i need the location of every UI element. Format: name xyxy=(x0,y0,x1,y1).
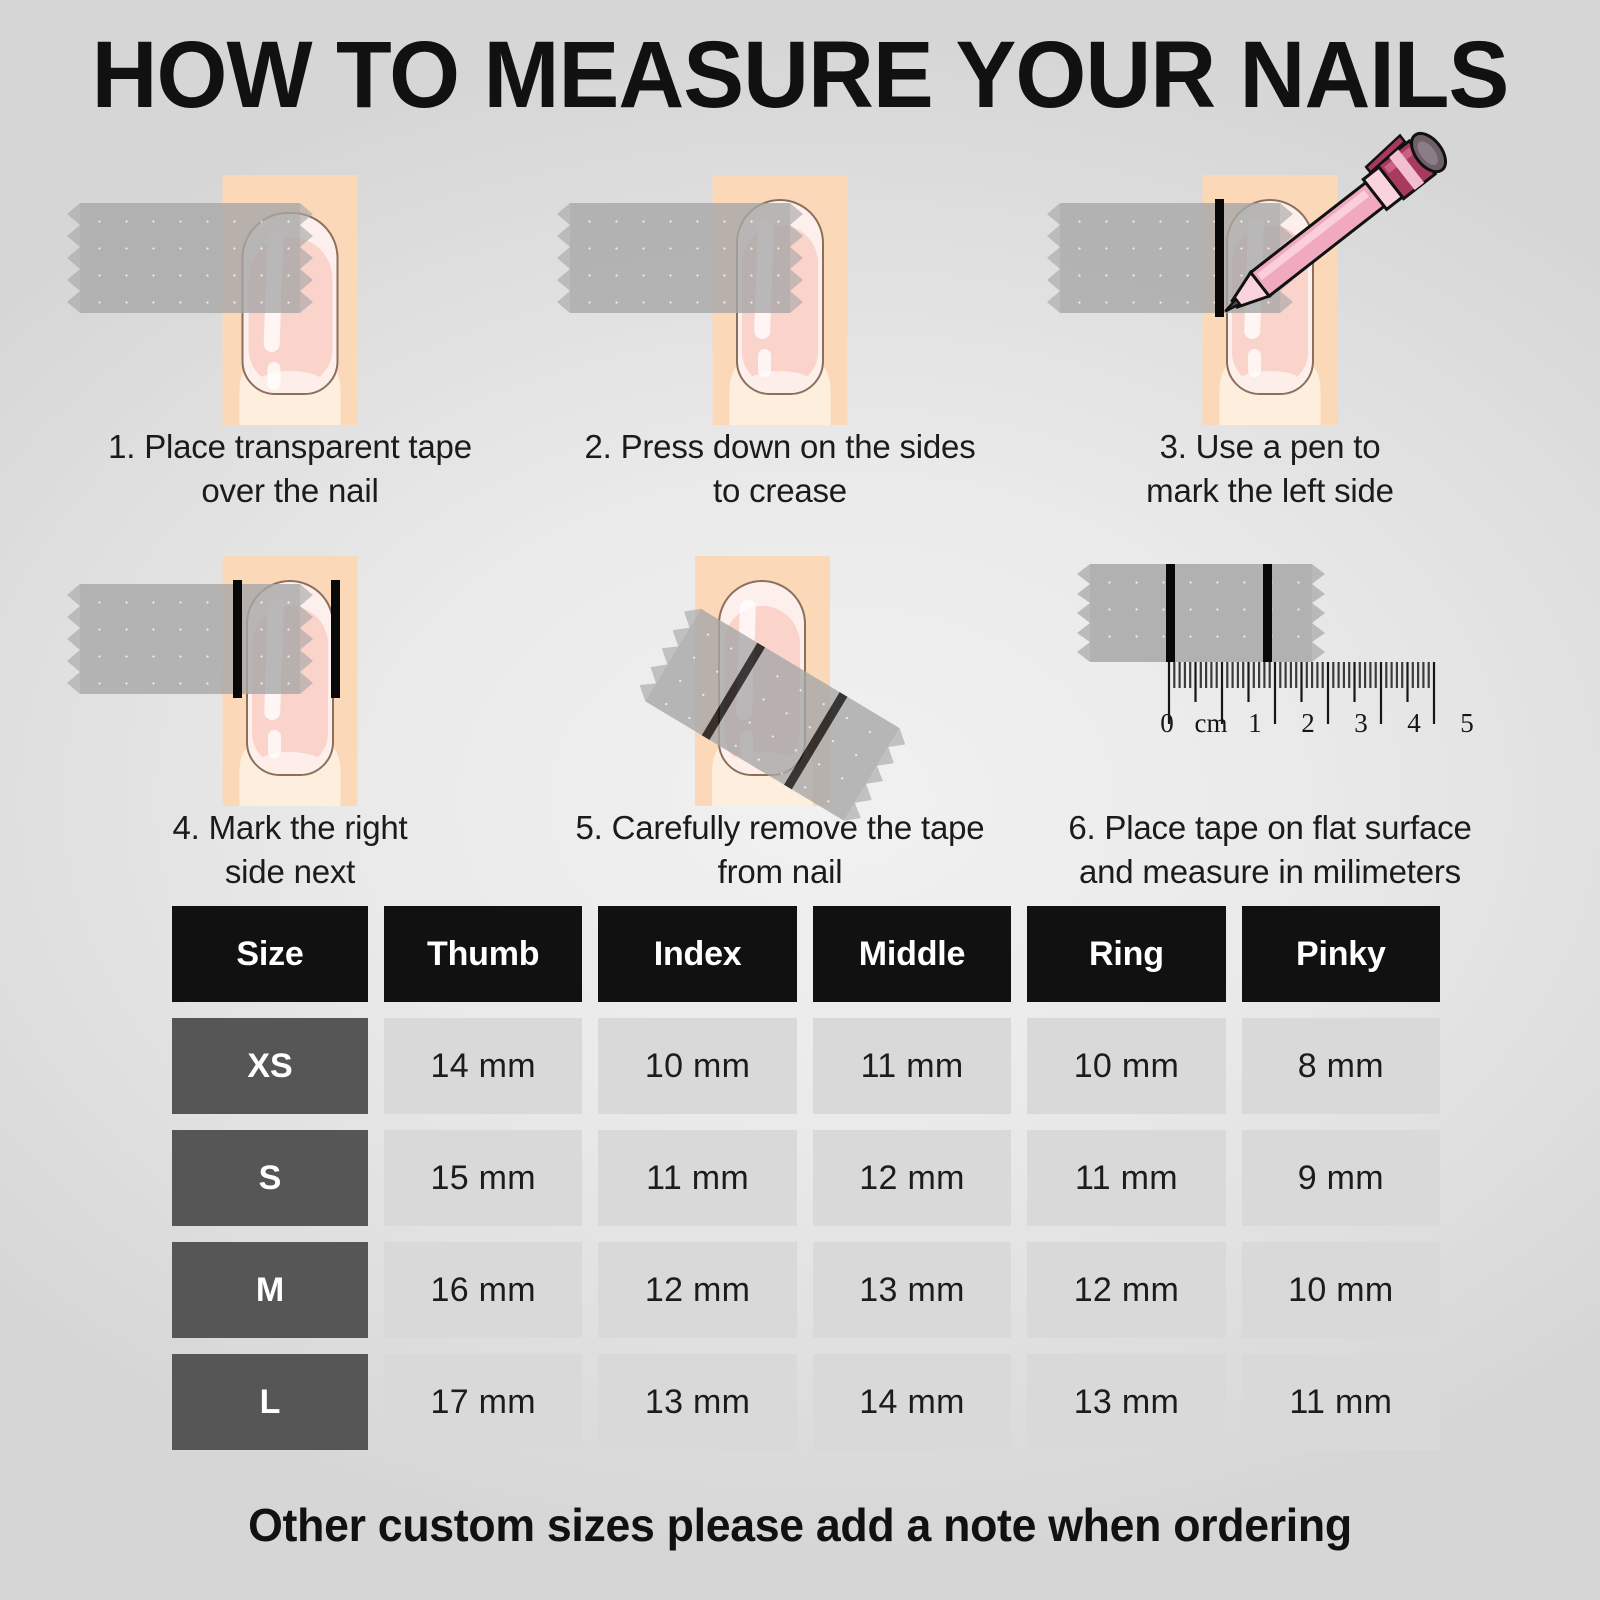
step-6-illustration: 0 cm 1 2 3 4 5 xyxy=(1035,506,1505,806)
step-6-line1: 6. Place tape on flat surface xyxy=(1020,806,1520,850)
row-size-xs: XS xyxy=(172,1018,368,1114)
cell-l-middle: 14 mm xyxy=(813,1354,1011,1450)
cell-xs-ring: 10 mm xyxy=(1027,1018,1225,1114)
tape-texture xyxy=(1090,564,1312,662)
step-3-caption: 3. Use a pen to mark the left side xyxy=(1035,425,1505,512)
nail-highlight-small xyxy=(268,362,281,390)
tape-zigzag-right xyxy=(1312,564,1325,662)
pen-mark-right xyxy=(331,580,340,698)
tape-texture xyxy=(570,203,790,313)
cell-l-ring: 13 mm xyxy=(1027,1354,1225,1450)
step-5: 5. Carefully remove the tape from nail xyxy=(545,506,1015,893)
footer-note: Other custom sizes please add a note whe… xyxy=(24,1498,1576,1552)
pen-icon xyxy=(1205,113,1465,323)
cell-s-middle: 12 mm xyxy=(813,1130,1011,1226)
pen-mark-right xyxy=(1263,564,1272,662)
nail-highlight-small xyxy=(268,730,281,758)
tape-zigzag-right xyxy=(790,203,803,313)
cell-s-index: 11 mm xyxy=(598,1130,796,1226)
cell-xs-middle: 11 mm xyxy=(813,1018,1011,1114)
nail-lunula xyxy=(1234,371,1306,395)
step-4: 4. Mark the right side next xyxy=(55,506,525,893)
step-2-illustration xyxy=(545,125,1015,425)
step-1: 1. Place transparent tape over the nail xyxy=(55,125,525,512)
step-2: 2. Press down on the sides to crease xyxy=(545,125,1015,512)
table-header-index: Index xyxy=(598,906,796,1002)
table-header-thumb: Thumb xyxy=(384,906,582,1002)
ruler-labels: 0 cm 1 2 3 4 5 xyxy=(1163,708,1553,748)
tape-zigzag-left xyxy=(1077,564,1090,662)
step-4-line2: side next xyxy=(55,850,525,894)
tape-zigzag-right xyxy=(300,203,313,313)
cell-m-middle: 13 mm xyxy=(813,1242,1011,1338)
cell-xs-index: 10 mm xyxy=(598,1018,796,1114)
step-4-illustration xyxy=(55,506,525,806)
table-row: XS 14 mm 10 mm 11 mm 10 mm 8 mm xyxy=(172,1018,1440,1114)
nail-highlight-small xyxy=(758,349,771,377)
nail-size-guide-page: HOW TO MEASURE YOUR NAILS 1. Place trans… xyxy=(0,0,1600,1600)
step-4-caption: 4. Mark the right side next xyxy=(55,806,525,893)
cell-m-thumb: 16 mm xyxy=(384,1242,582,1338)
row-size-m: M xyxy=(172,1242,368,1338)
nail-lunula xyxy=(254,752,326,776)
ruler-label-5: 5 xyxy=(1460,708,1474,739)
cell-xs-pinky: 8 mm xyxy=(1242,1018,1440,1114)
table-row: S 15 mm 11 mm 12 mm 11 mm 9 mm xyxy=(172,1130,1440,1226)
ruler-label-1: 1 xyxy=(1248,708,1262,739)
step-5-line2: from nail xyxy=(545,850,1015,894)
table-header-row: Size Thumb Index Middle Ring Pinky xyxy=(172,906,1440,1002)
tape-creased xyxy=(570,203,790,313)
table-header-ring: Ring xyxy=(1027,906,1225,1002)
step-3-illustration xyxy=(1035,125,1505,425)
row-size-s: S xyxy=(172,1130,368,1226)
step-3-line1: 3. Use a pen to xyxy=(1035,425,1505,469)
cell-m-index: 12 mm xyxy=(598,1242,796,1338)
step-5-caption: 5. Carefully remove the tape from nail xyxy=(545,806,1015,893)
tape-texture xyxy=(80,584,300,694)
nail-lunula xyxy=(744,371,816,395)
step-3: 3. Use a pen to mark the left side xyxy=(1035,125,1505,512)
page-title: HOW TO MEASURE YOUR NAILS xyxy=(32,28,1568,123)
step-1-line1: 1. Place transparent tape xyxy=(55,425,525,469)
ruler-label-0: 0 xyxy=(1160,708,1174,739)
table-row: M 16 mm 12 mm 13 mm 12 mm 10 mm xyxy=(172,1242,1440,1338)
nail-lunula xyxy=(254,371,326,395)
step-4-line1: 4. Mark the right xyxy=(55,806,525,850)
step-2-line1: 2. Press down on the sides xyxy=(545,425,1015,469)
ruler-label-4: 4 xyxy=(1407,708,1421,739)
step-6: 0 cm 1 2 3 4 5 6. Place tape on flat sur… xyxy=(1035,506,1505,893)
step-5-illustration xyxy=(545,506,1015,806)
tape-zigzag-right xyxy=(300,584,313,694)
pen-mark-left xyxy=(233,580,242,698)
cell-s-pinky: 9 mm xyxy=(1242,1130,1440,1226)
step-2-caption: 2. Press down on the sides to crease xyxy=(545,425,1015,512)
cell-l-pinky: 11 mm xyxy=(1242,1354,1440,1450)
tape-zigzag-left xyxy=(557,203,570,313)
ruler-label-3: 3 xyxy=(1354,708,1368,739)
cell-xs-thumb: 14 mm xyxy=(384,1018,582,1114)
step-1-illustration xyxy=(55,125,525,425)
tape xyxy=(80,584,300,694)
step-1-caption: 1. Place transparent tape over the nail xyxy=(55,425,525,512)
tape xyxy=(80,203,300,313)
nail-highlight-small xyxy=(1248,349,1261,377)
ruler-label-cm: cm xyxy=(1195,708,1228,739)
cell-m-pinky: 10 mm xyxy=(1242,1242,1440,1338)
size-chart-table: Size Thumb Index Middle Ring Pinky XS 14… xyxy=(172,906,1440,1466)
tape-zigzag-left xyxy=(67,203,80,313)
cell-l-index: 13 mm xyxy=(598,1354,796,1450)
tape-texture xyxy=(80,203,300,313)
step-6-caption: 6. Place tape on flat surface and measur… xyxy=(1020,806,1520,893)
tape-zigzag-left xyxy=(1047,203,1060,313)
table-header-size: Size xyxy=(172,906,368,1002)
table-row: L 17 mm 13 mm 14 mm 13 mm 11 mm xyxy=(172,1354,1440,1450)
cell-s-thumb: 15 mm xyxy=(384,1130,582,1226)
tape-zigzag-left xyxy=(67,584,80,694)
row-size-l: L xyxy=(172,1354,368,1450)
step-6-line2: and measure in milimeters xyxy=(1020,850,1520,894)
cell-l-thumb: 17 mm xyxy=(384,1354,582,1450)
pen-mark-left xyxy=(1166,564,1175,662)
tape-flat xyxy=(1090,564,1312,662)
cell-m-ring: 12 mm xyxy=(1027,1242,1225,1338)
table-header-middle: Middle xyxy=(813,906,1011,1002)
table-header-pinky: Pinky xyxy=(1242,906,1440,1002)
step-5-line1: 5. Carefully remove the tape xyxy=(545,806,1015,850)
ruler-label-2: 2 xyxy=(1301,708,1315,739)
cell-s-ring: 11 mm xyxy=(1027,1130,1225,1226)
